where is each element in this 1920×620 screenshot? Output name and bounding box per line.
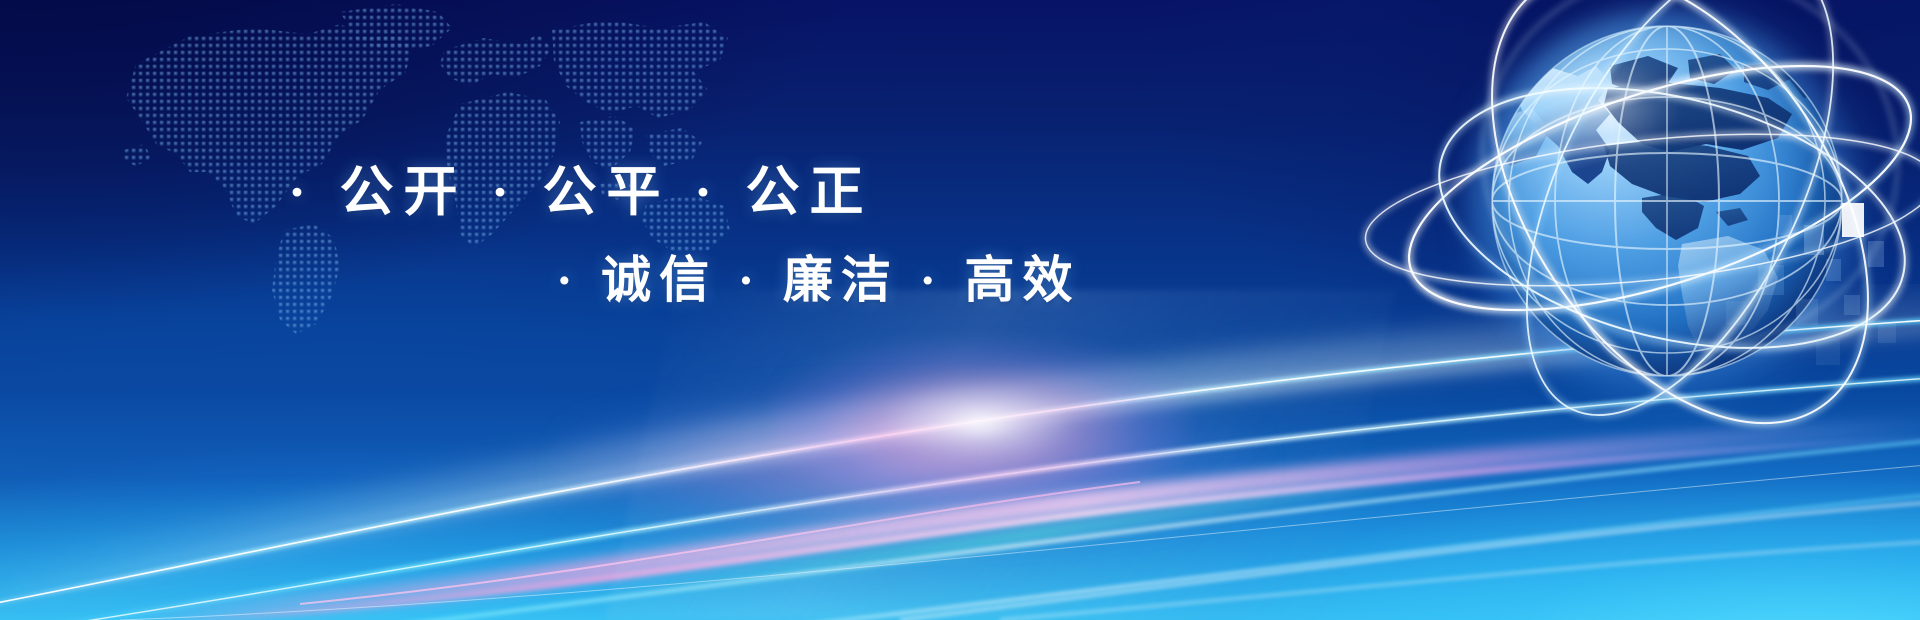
glow-burst-icon (770, 338, 1190, 508)
banner-root: · 公开 · 公平 · 公正 · 诚信 · 廉洁 · 高效 (0, 0, 1920, 620)
slogan-line-2: · 诚信 · 廉洁 · 高效 (556, 240, 1081, 312)
mosaic-squares-icon (1630, 203, 1920, 373)
slogan-line-1: · 公开 · 公平 · 公正 (288, 147, 874, 226)
globe-icon (1380, 0, 1920, 448)
